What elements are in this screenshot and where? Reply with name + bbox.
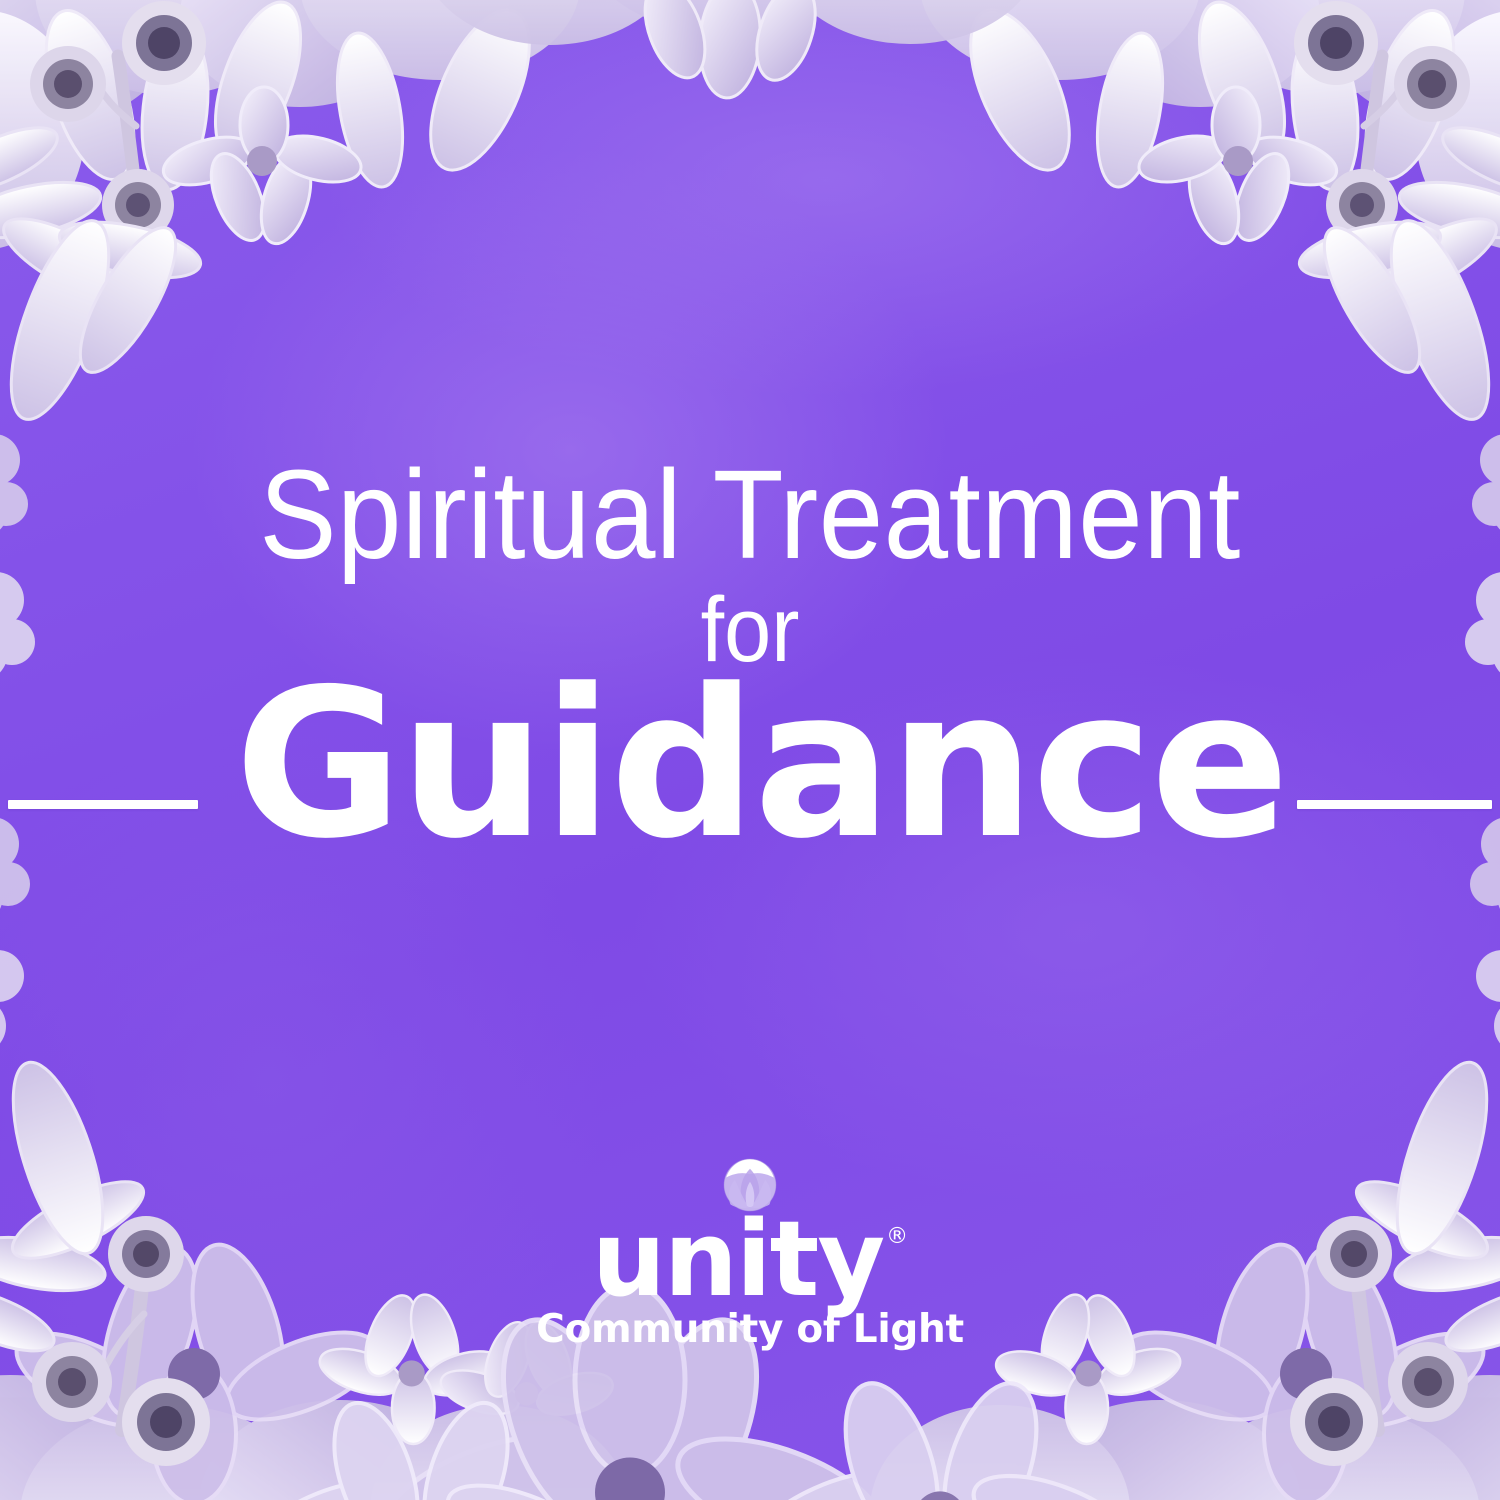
feature-word: Guidance (234, 668, 1286, 863)
headline-line-1: Spiritual Treatment (60, 452, 1440, 578)
horizontal-rule-left (8, 800, 198, 809)
registered-trademark-icon: ® (886, 1226, 908, 1248)
horizontal-rule-right (1297, 800, 1492, 809)
unity-wordmark-wrap: unity ® (592, 1216, 908, 1303)
floral-corner-top-left (0, 0, 580, 430)
floral-corner-top-right (920, 0, 1500, 430)
floral-top-middle (430, 0, 1050, 100)
headline-block: Spiritual Treatment for (0, 452, 1500, 676)
unity-wordmark: unity (592, 1216, 883, 1303)
feature-word-row: Guidance (0, 668, 1500, 863)
unity-logo: unity ® Community of Light (0, 1158, 1500, 1352)
spiritual-treatment-card: Spiritual Treatment for Guidance unity ®… (0, 0, 1500, 1500)
